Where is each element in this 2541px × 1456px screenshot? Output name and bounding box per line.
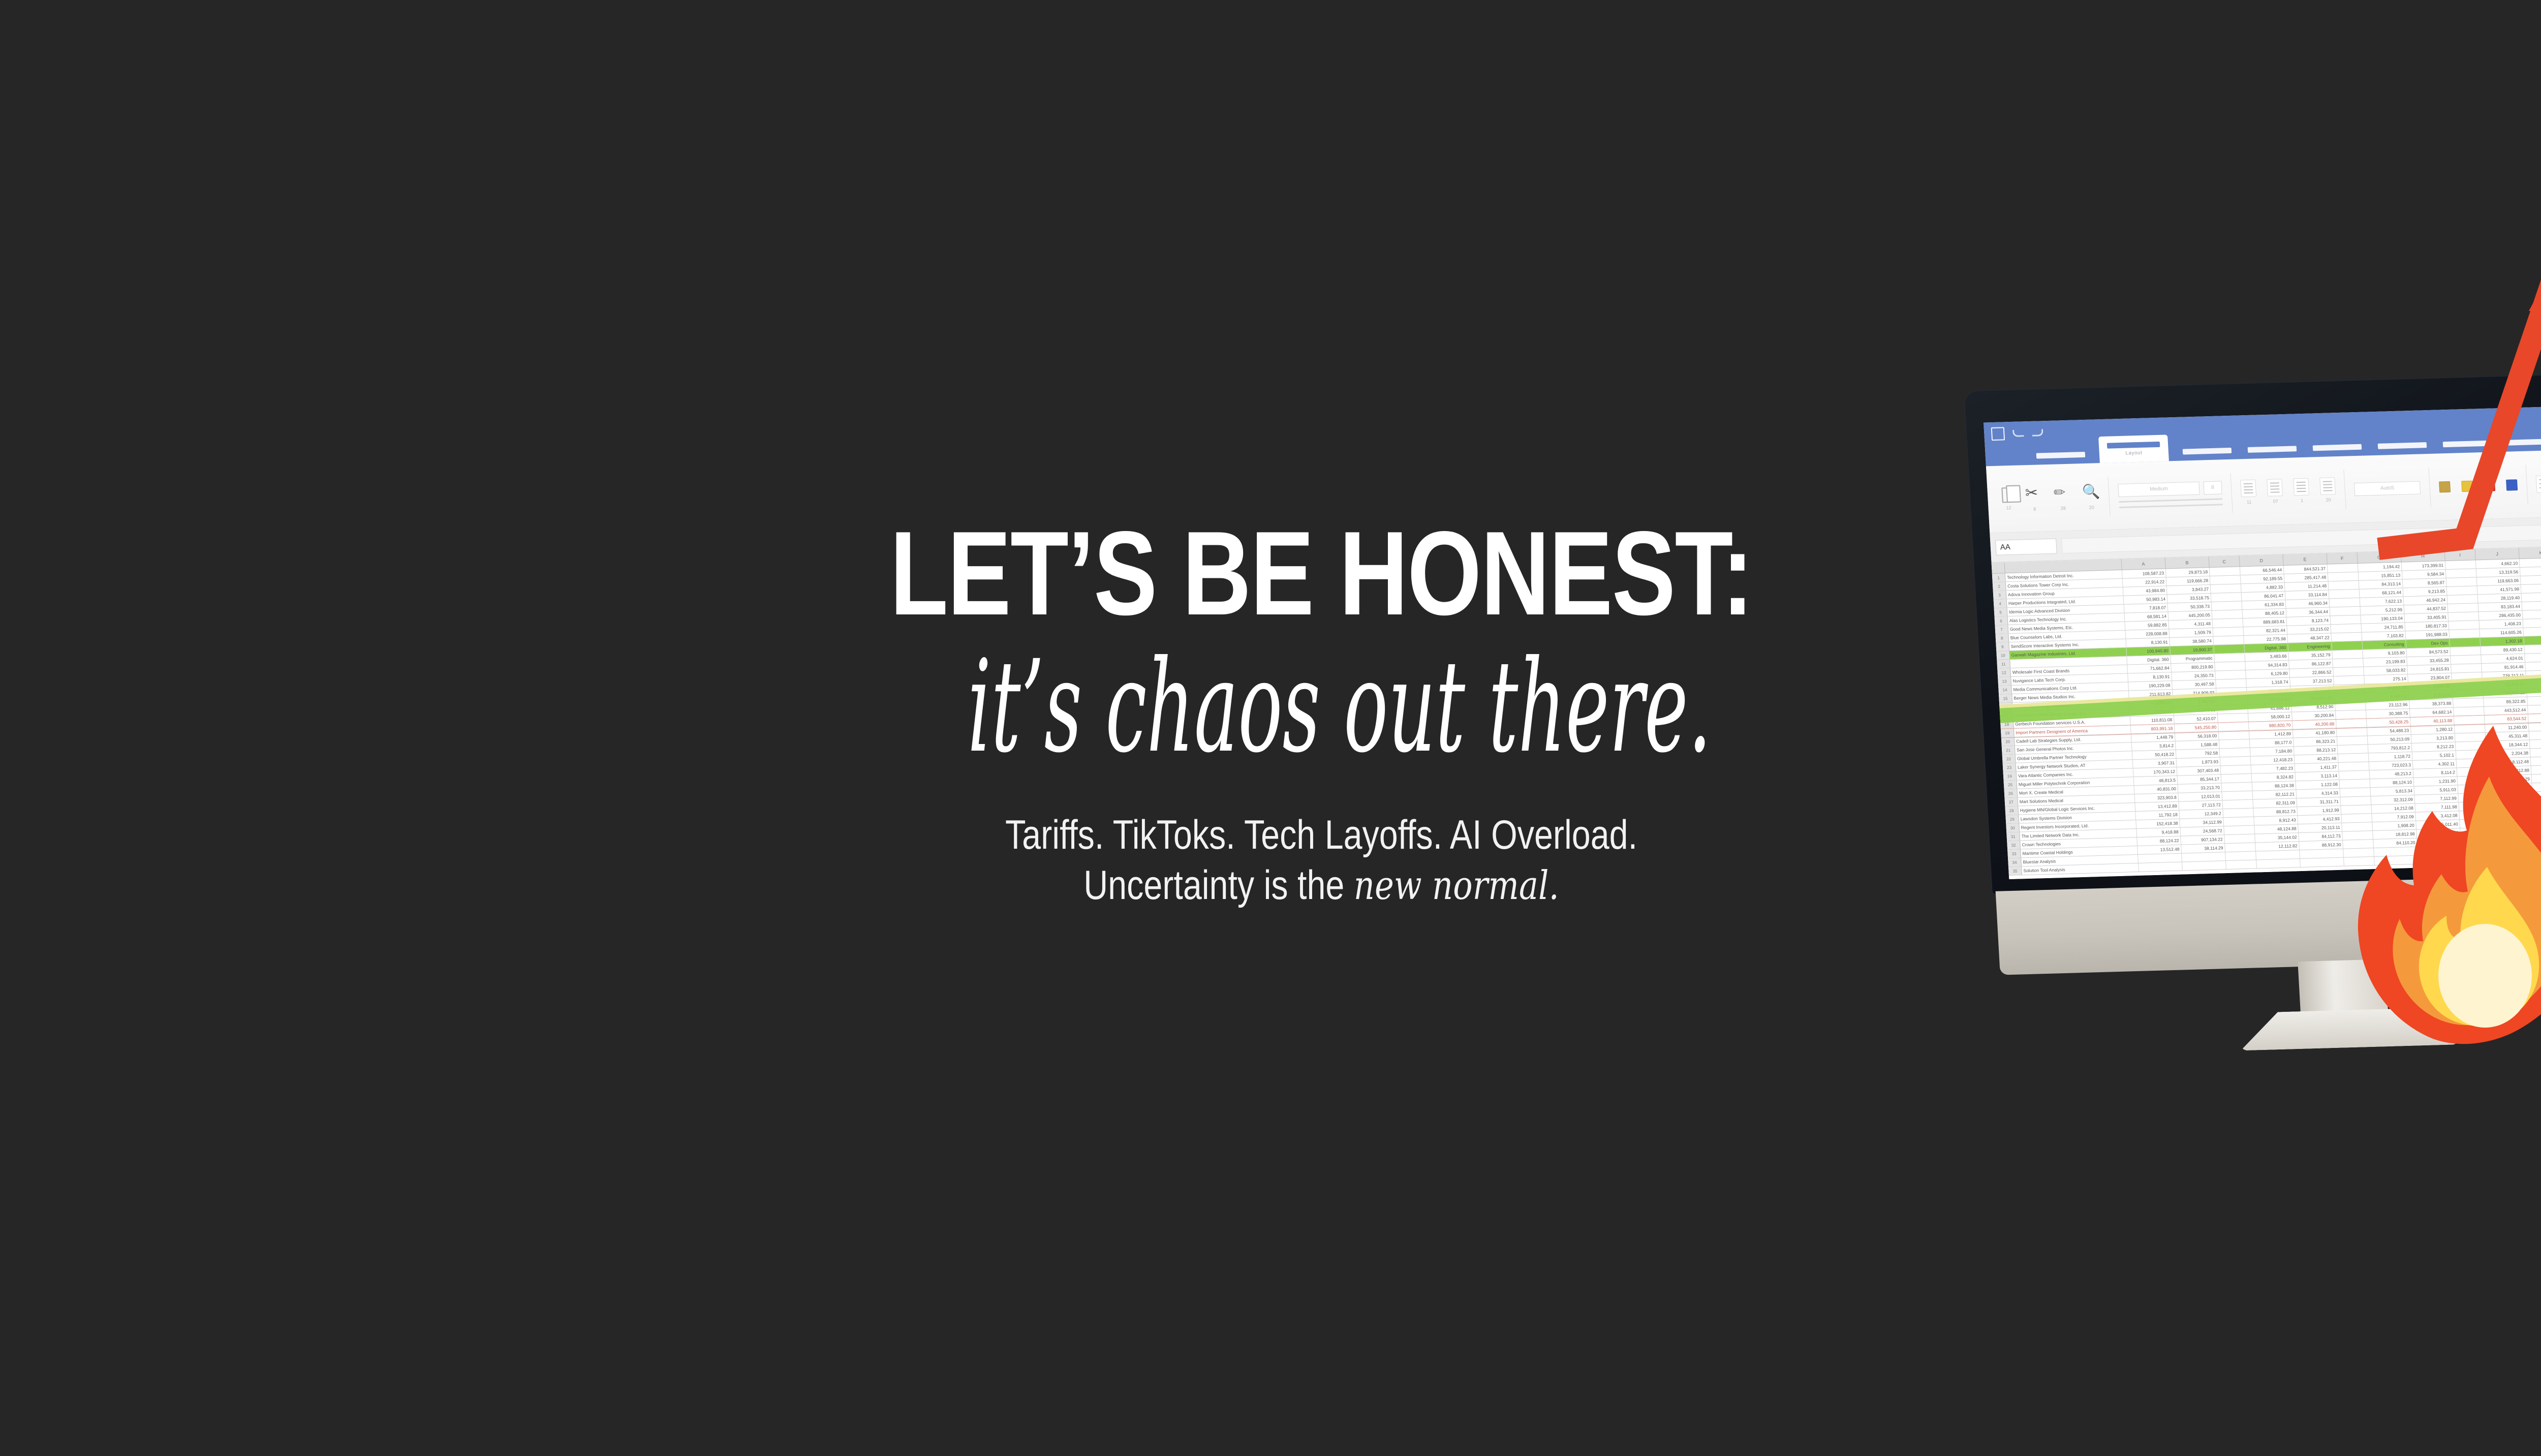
- tab-view[interactable]: View: [2505, 432, 2541, 452]
- table-cell[interactable]: 7,818.07: [2124, 603, 2168, 612]
- table-cell[interactable]: 5,212.99: [2361, 605, 2405, 614]
- table-cell[interactable]: 1,318.74: [2246, 678, 2290, 687]
- table-cell[interactable]: 78,318.74: [2247, 695, 2291, 704]
- row-header[interactable]: 28: [2005, 807, 2019, 815]
- table-cell[interactable]: 24,711.85: [2361, 623, 2405, 632]
- column-header[interactable]: [1992, 562, 2005, 573]
- table-cell[interactable]: 37,213.52: [2290, 676, 2334, 686]
- table-cell[interactable]: 4,412.93: [2298, 815, 2342, 824]
- table-cell[interactable]: 68,121.44: [2360, 588, 2404, 597]
- table-cell[interactable]: [2300, 849, 2344, 858]
- table-cell[interactable]: 211,613.82: [2129, 690, 2173, 699]
- table-cell[interactable]: Consulting: [2362, 640, 2406, 649]
- table-cell[interactable]: Dev Ops: [2406, 639, 2450, 648]
- table-cell[interactable]: 1,588.48: [2176, 740, 2220, 750]
- table-cell[interactable]: 82,321.44: [2243, 626, 2287, 635]
- table-cell[interactable]: 980,820.70: [2249, 721, 2293, 730]
- table-cell[interactable]: [2225, 843, 2256, 852]
- table-cell[interactable]: 3,907.31: [2133, 759, 2177, 768]
- table-cell[interactable]: 61,334.83: [2242, 600, 2286, 609]
- row-header[interactable]: 18: [2000, 720, 2014, 729]
- table-cell[interactable]: 64,682.14: [2410, 708, 2454, 717]
- row-header[interactable]: 24: [2003, 772, 2017, 781]
- copy-button[interactable]: 12: [2001, 487, 2015, 511]
- style-swatch-yellow[interactable]: [2461, 480, 2473, 492]
- table-cell[interactable]: 275.14: [2364, 674, 2408, 684]
- align-left-button[interactable]: 11: [2240, 480, 2257, 505]
- table-cell[interactable]: 9,418.88: [2136, 828, 2181, 837]
- table-cell[interactable]: 803,991.18: [2131, 724, 2175, 733]
- table-cell[interactable]: 12,349.2: [2179, 809, 2223, 818]
- table-cell[interactable]: 4,314.33: [2296, 789, 2340, 798]
- table-cell[interactable]: 190,133.04: [2361, 614, 2405, 623]
- table-cell[interactable]: 46,960.34: [2286, 599, 2330, 608]
- table-cell[interactable]: 23,112.96: [2366, 700, 2410, 709]
- table-cell[interactable]: 7,103.82: [2362, 631, 2406, 640]
- row-header[interactable]: 8: [1995, 634, 2009, 642]
- table-cell[interactable]: [2217, 705, 2248, 714]
- table-cell[interactable]: [2333, 667, 2364, 676]
- table-cell[interactable]: 38,373.88: [2409, 699, 2454, 708]
- table-cell[interactable]: 88,213.12: [2294, 746, 2338, 755]
- table-cell[interactable]: 3,113.14: [2296, 771, 2340, 781]
- redo-icon[interactable]: [2032, 429, 2043, 437]
- table-cell[interactable]: 114,605.26: [2480, 628, 2524, 637]
- table-cell[interactable]: [2336, 710, 2367, 719]
- table-cell[interactable]: 24,350.73: [2172, 671, 2216, 680]
- table-cell[interactable]: 41,886.12: [2248, 704, 2292, 713]
- tab-page-layout[interactable]: Page Layout: [2245, 439, 2299, 459]
- table-cell[interactable]: [2211, 584, 2242, 593]
- table-cell[interactable]: 1,448.79: [2131, 733, 2176, 742]
- table-cell[interactable]: 170,343.12: [2133, 767, 2178, 777]
- table-cell[interactable]: [2445, 560, 2476, 569]
- row-header[interactable]: 5: [1994, 608, 2008, 616]
- table-cell[interactable]: 12,418.23: [2251, 755, 2295, 764]
- table-cell[interactable]: 89,322.85: [2484, 697, 2528, 706]
- table-cell[interactable]: 84,313.14: [2359, 579, 2403, 588]
- row-header[interactable]: 10: [1996, 651, 2010, 660]
- table-cell[interactable]: 4,624.01: [2481, 654, 2525, 663]
- row-header[interactable]: 20: [2001, 737, 2015, 746]
- table-cell[interactable]: 94,947.43: [2365, 683, 2409, 692]
- table-cell[interactable]: 82,311.09: [2253, 798, 2297, 808]
- table-cell[interactable]: [2225, 851, 2256, 860]
- table-cell[interactable]: 307,403.48: [2177, 766, 2221, 775]
- table-cell[interactable]: 30,200.84: [2292, 711, 2336, 720]
- table-cell[interactable]: 35,144.02: [2255, 833, 2299, 842]
- table-cell[interactable]: [2329, 581, 2360, 590]
- table-cell[interactable]: [2330, 607, 2361, 616]
- row-header[interactable]: 30: [2006, 824, 2020, 832]
- row-header[interactable]: 33: [2007, 849, 2021, 858]
- styles-group[interactable]: [2428, 451, 2528, 520]
- table-cell[interactable]: 212,215.56: [2528, 713, 2541, 722]
- table-cell[interactable]: [2217, 696, 2248, 705]
- table-cell[interactable]: 33,405.91: [2404, 613, 2449, 622]
- cut-button[interactable]: ✂ 8: [2025, 484, 2043, 512]
- table-cell[interactable]: 7,184.80: [2250, 747, 2295, 756]
- table-cell[interactable]: 87,127.71: [2520, 558, 2541, 567]
- table-cell[interactable]: 4,882.33: [2241, 583, 2285, 592]
- table-cell[interactable]: 20,113.11: [2298, 823, 2342, 832]
- clipboard-group[interactable]: 12 ✂ 8 ✏ 28 🔍 20: [1991, 463, 2111, 533]
- column-header[interactable]: B: [2165, 556, 2210, 568]
- table-cell[interactable]: 545,250.80: [2175, 723, 2219, 732]
- table-cell[interactable]: 100,940.80: [2126, 646, 2171, 656]
- table-cell[interactable]: 33,110.04: [2528, 704, 2541, 714]
- table-cell[interactable]: 85,344.17: [2178, 775, 2222, 784]
- table-cell[interactable]: 19,800.37: [2170, 645, 2214, 655]
- row-header[interactable]: 14: [1998, 686, 2012, 694]
- table-cell[interactable]: [2182, 852, 2226, 861]
- table-cell[interactable]: [2224, 826, 2255, 835]
- table-cell[interactable]: [2138, 854, 2182, 863]
- font-group[interactable]: Medium 8: [2108, 459, 2233, 529]
- table-cell[interactable]: 889,683.81: [2243, 617, 2287, 627]
- table-cell[interactable]: 1,408.23: [2479, 619, 2523, 629]
- table-cell[interactable]: [2449, 629, 2480, 638]
- table-cell[interactable]: [2218, 722, 2249, 731]
- format-painter-button[interactable]: ✏ 28: [2053, 484, 2072, 511]
- table-cell[interactable]: [2332, 650, 2363, 659]
- table-cell[interactable]: 33,113.26: [2526, 670, 2541, 679]
- column-header[interactable]: E: [2283, 553, 2328, 565]
- table-cell[interactable]: [2214, 644, 2245, 654]
- table-cell[interactable]: 1,509.79: [2169, 628, 2213, 637]
- table-cell[interactable]: 1,873.93: [2177, 757, 2221, 766]
- table-cell[interactable]: 9,103.80: [2363, 648, 2407, 658]
- table-cell[interactable]: [2212, 610, 2243, 619]
- table-cell[interactable]: 1,411.37: [2295, 763, 2339, 772]
- table-cell[interactable]: 800,219.80: [2171, 663, 2215, 672]
- table-cell[interactable]: 40,831.00: [2134, 785, 2178, 794]
- table-cell[interactable]: 40,200.88: [2292, 720, 2337, 729]
- table-cell[interactable]: 89,610+.55: [2291, 694, 2335, 703]
- table-cell[interactable]: 83,183.44: [2478, 602, 2523, 611]
- tab-insert[interactable]: Insert: [2180, 441, 2234, 461]
- table-cell[interactable]: 12,013.01: [2178, 792, 2222, 801]
- row-header[interactable]: 35: [2008, 866, 2022, 875]
- column-header[interactable]: C: [2209, 555, 2240, 567]
- table-cell[interactable]: 907,134.22: [2181, 835, 2225, 844]
- table-cell[interactable]: 71,662.84: [2127, 664, 2172, 673]
- table-cell[interactable]: [2333, 659, 2364, 668]
- tab-formulas[interactable]: Formulas: [2310, 438, 2364, 457]
- table-cell[interactable]: 38,580.74: [2170, 637, 2214, 646]
- row-header[interactable]: 26: [2004, 789, 2018, 798]
- table-cell[interactable]: 443,512.44: [2484, 706, 2528, 715]
- table-cell[interactable]: [2451, 655, 2482, 664]
- wrap-text-button[interactable]: 20: [2319, 477, 2336, 503]
- table-cell[interactable]: 119,663.06: [2477, 576, 2521, 585]
- tab-file[interactable]: File: [2034, 445, 2088, 465]
- table-cell[interactable]: 88,812.73: [2253, 807, 2298, 816]
- row-header[interactable]: 25: [2004, 781, 2018, 789]
- table-cell[interactable]: 7,622.13: [2360, 597, 2404, 606]
- undo-icon[interactable]: [2012, 429, 2024, 437]
- table-cell[interactable]: 48,813.5: [2134, 776, 2178, 785]
- table-cell[interactable]: 7,482.23: [2251, 764, 2296, 773]
- table-cell[interactable]: 46,942.24: [2404, 596, 2448, 605]
- column-header[interactable]: I: [2445, 549, 2476, 561]
- table-cell[interactable]: —,1989.24: [2129, 698, 2174, 707]
- table-cell[interactable]: 8,512.90: [2291, 702, 2336, 711]
- table-cell[interactable]: [2453, 698, 2484, 707]
- row-header[interactable]: 21: [2002, 746, 2016, 755]
- style-swatch-red[interactable]: [2484, 480, 2495, 491]
- table-cell[interactable]: 12,112.82: [2255, 842, 2300, 851]
- table-cell[interactable]: 81,338.20: [2521, 575, 2541, 584]
- column-header[interactable]: J: [2475, 548, 2520, 560]
- table-cell[interactable]: 41,180.80: [2293, 728, 2337, 737]
- column-header[interactable]: K: [2519, 547, 2541, 559]
- table-cell[interactable]: 1,942.08: [2408, 682, 2453, 691]
- table-cell[interactable]: 50,338.73: [2168, 602, 2212, 611]
- table-cell[interactable]: 86,122.87: [2289, 659, 2333, 668]
- table-cell[interactable]: 33,455.28: [2407, 656, 2451, 665]
- table-cell[interactable]: [2330, 615, 2361, 625]
- table-cell[interactable]: [2222, 800, 2253, 809]
- table-cell[interactable]: 92,189.55: [2241, 574, 2285, 583]
- table-cell[interactable]: [2221, 783, 2252, 792]
- table-cell[interactable]: 190,229.08: [2128, 681, 2173, 690]
- table-cell[interactable]: [2446, 569, 2477, 578]
- table-cell[interactable]: 41,571.99: [2477, 585, 2522, 594]
- row-header[interactable]: 15: [1999, 694, 2012, 703]
- table-cell[interactable]: 173,399.01: [2402, 561, 2446, 570]
- table-cell[interactable]: 88,817.42: [2522, 609, 2541, 618]
- table-cell[interactable]: [2213, 636, 2244, 645]
- table-cell[interactable]: 13,412.89: [2135, 802, 2179, 811]
- table-cell[interactable]: 8,324.82: [2252, 772, 2296, 782]
- table-cell[interactable]: 43,715.40: [2520, 567, 2541, 576]
- row-header[interactable]: 34: [2008, 858, 2022, 866]
- table-cell[interactable]: 445,200.05: [2168, 611, 2213, 620]
- table-cell[interactable]: 50,983.14: [2124, 595, 2168, 604]
- column-header[interactable]: H: [2401, 550, 2445, 562]
- table-cell[interactable]: 88,177.0: [2250, 738, 2294, 747]
- table-cell[interactable]: 22,775.98: [2244, 635, 2288, 644]
- table-cell[interactable]: [2454, 707, 2485, 716]
- table-cell[interactable]: 58,000.12: [2248, 712, 2292, 722]
- table-cell[interactable]: 19,775.45: [2522, 601, 2541, 610]
- row-header[interactable]: 9: [1996, 642, 2009, 651]
- table-cell[interactable]: [2218, 714, 2249, 723]
- table-cell[interactable]: 4,662.10: [2476, 559, 2520, 568]
- table-cell[interactable]: [2451, 664, 2482, 673]
- table-cell[interactable]: 39,817.97: [2523, 627, 2541, 636]
- table-cell[interactable]: [2332, 641, 2363, 650]
- table-cell[interactable]: [2453, 690, 2484, 699]
- table-cell[interactable]: [2215, 662, 2246, 671]
- table-cell[interactable]: [2331, 633, 2362, 642]
- row-header[interactable]: 1: [1992, 573, 2006, 582]
- table-cell[interactable]: 4,311.48: [2168, 619, 2213, 629]
- table-cell[interactable]: [2221, 774, 2252, 783]
- table-cell[interactable]: 58,033.82: [2364, 666, 2408, 675]
- table-cell[interactable]: 33,513.04: [2524, 635, 2541, 644]
- table-cell[interactable]: 8,912.43: [2254, 816, 2298, 825]
- table-cell[interactable]: [2220, 748, 2251, 757]
- row-header[interactable]: 7: [1995, 625, 2008, 634]
- table-cell[interactable]: 22,914.22: [2123, 577, 2167, 586]
- table-cell[interactable]: [2335, 701, 2366, 710]
- row-header[interactable]: 2: [1993, 582, 2006, 591]
- table-cell[interactable]: 3,483.66: [2245, 652, 2289, 661]
- table-cell[interactable]: 84,112.73: [2299, 832, 2343, 841]
- table-cell[interactable]: 40,221.48: [2295, 754, 2339, 763]
- number-format-select[interactable]: AutoS: [2354, 481, 2421, 496]
- tab-review[interactable]: Review: [2440, 433, 2494, 453]
- table-cell[interactable]: 4,440.72: [2365, 692, 2409, 701]
- align-right-button[interactable]: 1: [2293, 478, 2310, 504]
- table-cell[interactable]: Digital. 360: [2244, 643, 2288, 653]
- table-cell[interactable]: [2223, 809, 2254, 818]
- table-cell[interactable]: 33,114.84: [2285, 590, 2330, 599]
- table-cell[interactable]: 7,418.02: [2527, 696, 2541, 705]
- table-cell[interactable]: 3,814.2: [2132, 741, 2176, 751]
- table-cell[interactable]: 9,213.85: [2403, 587, 2447, 596]
- table-cell[interactable]: 8,565.87: [2403, 578, 2447, 587]
- table-cell[interactable]: [2211, 593, 2242, 602]
- table-cell[interactable]: 1,492.58: [2173, 697, 2217, 706]
- number-group[interactable]: AutoS: [2343, 454, 2431, 522]
- table-cell[interactable]: 8,130.91: [2128, 672, 2172, 681]
- table-cell[interactable]: [2216, 679, 2247, 688]
- table-cell[interactable]: 50,418.22: [2132, 750, 2177, 759]
- table-cell[interactable]: 23,199.83: [2363, 657, 2407, 666]
- table-cell[interactable]: 59,882.85: [2125, 621, 2169, 630]
- table-cell[interactable]: 89,430.12: [2481, 645, 2525, 655]
- table-cell[interactable]: [2256, 859, 2301, 868]
- table-cell[interactable]: [2210, 575, 2241, 584]
- row-header[interactable]: 13: [1998, 677, 2011, 686]
- style-swatch-gold[interactable]: [2439, 481, 2451, 492]
- table-cell[interactable]: [2452, 672, 2483, 681]
- font-size-input[interactable]: 8: [2203, 481, 2222, 494]
- table-cell[interactable]: 56,215.39: [2525, 661, 2541, 670]
- find-button[interactable]: 🔍 20: [2082, 483, 2100, 510]
- table-cell[interactable]: [2182, 861, 2226, 870]
- table-cell[interactable]: 1,912.99: [2297, 806, 2341, 815]
- table-cell[interactable]: 29,873.18: [2166, 568, 2210, 577]
- table-cell[interactable]: [2214, 653, 2245, 662]
- table-cell[interactable]: 13,319.56: [2476, 568, 2521, 577]
- table-cell[interactable]: 66,546.44: [2240, 566, 2284, 575]
- table-cell[interactable]: 1,122.08: [2296, 780, 2340, 789]
- row-header[interactable]: 3: [1993, 591, 2007, 599]
- row-header[interactable]: 6: [1995, 616, 2008, 625]
- style-swatch-blue[interactable]: [2506, 479, 2518, 491]
- table-cell[interactable]: 30,388.75: [2366, 709, 2410, 718]
- table-cell[interactable]: 12,225.34: [2483, 680, 2527, 689]
- table-cell[interactable]: 48,124.88: [2254, 824, 2299, 833]
- table-cell[interactable]: 191,988.03: [2405, 630, 2450, 639]
- table-cell[interactable]: 30,497.58: [2172, 680, 2216, 689]
- table-cell[interactable]: 43,984.80: [2123, 586, 2167, 595]
- table-cell[interactable]: [2213, 627, 2244, 636]
- table-cell[interactable]: 33,213.70: [2178, 783, 2222, 792]
- table-cell[interactable]: [2139, 862, 2183, 872]
- table-cell[interactable]: 33,518.75: [2167, 594, 2212, 603]
- table-cell[interactable]: 24,568.72: [2180, 826, 2224, 835]
- table-cell[interactable]: [2447, 586, 2478, 595]
- row-header[interactable]: 29: [2005, 815, 2019, 824]
- column-header[interactable]: G: [2358, 551, 2402, 563]
- table-cell[interactable]: 84,573.52: [2406, 647, 2451, 657]
- tab-home[interactable]: Home Layout: [2098, 435, 2169, 463]
- table-cell[interactable]: 88,063.13: [2483, 689, 2527, 698]
- table-cell[interactable]: [2446, 577, 2477, 586]
- table-cell[interactable]: 24,815.81: [2407, 665, 2452, 674]
- table-cell[interactable]: 35,152.79: [2288, 650, 2333, 660]
- table-cell[interactable]: 52,572.34: [2524, 644, 2541, 653]
- row-header[interactable]: 4: [1994, 599, 2007, 608]
- table-cell[interactable]: 9,584.34: [2402, 570, 2446, 579]
- table-cell[interactable]: [2212, 618, 2243, 628]
- table-cell[interactable]: 68,581.14: [2125, 612, 2169, 621]
- table-cell[interactable]: 792.58: [2176, 749, 2220, 758]
- table-cell[interactable]: [2335, 693, 2366, 702]
- table-cell[interactable]: 6,129.80: [2246, 669, 2290, 678]
- table-cell[interactable]: 56,318.00: [2175, 732, 2219, 741]
- table-cell[interactable]: 180,817.33: [2405, 622, 2449, 631]
- table-cell[interactable]: 8,130.91: [2126, 638, 2170, 647]
- table-cell[interactable]: 5,741.18: [2130, 707, 2174, 716]
- insert-cells-icon[interactable]: [2536, 475, 2541, 493]
- table-cell[interactable]: [2212, 601, 2243, 610]
- row-header[interactable]: 11: [1997, 660, 2010, 668]
- table-cell[interactable]: 30,201.15: [2522, 592, 2541, 601]
- table-cell[interactable]: 108,587.23: [2122, 569, 2166, 578]
- table-cell[interactable]: 33,215.02: [2287, 625, 2331, 634]
- table-cell[interactable]: 7,112.93: [2527, 687, 2541, 696]
- table-cell[interactable]: [2328, 572, 2359, 581]
- table-cell[interactable]: 3,843.27: [2167, 585, 2211, 594]
- table-cell[interactable]: [2220, 757, 2251, 766]
- table-cell[interactable]: 285,417.48: [2284, 573, 2329, 582]
- table-cell[interactable]: 44,837.52: [2404, 604, 2449, 613]
- table-cell[interactable]: 97,871.83: [2525, 653, 2541, 662]
- row-header[interactable]: 27: [2004, 798, 2018, 807]
- table-cell[interactable]: [2226, 860, 2257, 869]
- table-cell[interactable]: 228,008.88: [2125, 629, 2170, 638]
- table-cell[interactable]: 38,114.29: [2181, 844, 2225, 853]
- column-header[interactable]: F: [2327, 552, 2358, 564]
- table-cell[interactable]: [2223, 817, 2254, 826]
- table-cell[interactable]: [2256, 850, 2300, 859]
- table-cell[interactable]: 844,521.37: [2284, 565, 2328, 574]
- row-header[interactable]: 17: [2000, 711, 2013, 720]
- font-name-input[interactable]: Medium: [2118, 481, 2199, 497]
- table-cell[interactable]: Digital. 360: [2127, 655, 2171, 664]
- table-cell[interactable]: 11,792.18: [2135, 811, 2180, 820]
- table-cell[interactable]: [2449, 621, 2480, 630]
- table-cell[interactable]: 1,148.98: [2526, 678, 2541, 688]
- table-cell[interactable]: 82,112.21: [2252, 790, 2297, 799]
- save-icon[interactable]: [1991, 427, 2005, 441]
- table-cell[interactable]: [2215, 670, 2246, 679]
- table-cell[interactable]: [2448, 603, 2479, 612]
- table-cell[interactable]: [2210, 567, 2241, 576]
- table-cell[interactable]: [2224, 834, 2255, 844]
- table-cell[interactable]: 11,214.48: [2285, 582, 2329, 591]
- table-cell[interactable]: 729,212.11: [2482, 671, 2526, 680]
- table-cell[interactable]: 15,851.13: [2359, 571, 2403, 580]
- table-cell[interactable]: 94,314.83: [2245, 661, 2289, 670]
- table-cell[interactable]: 323,903.8: [2134, 793, 2179, 802]
